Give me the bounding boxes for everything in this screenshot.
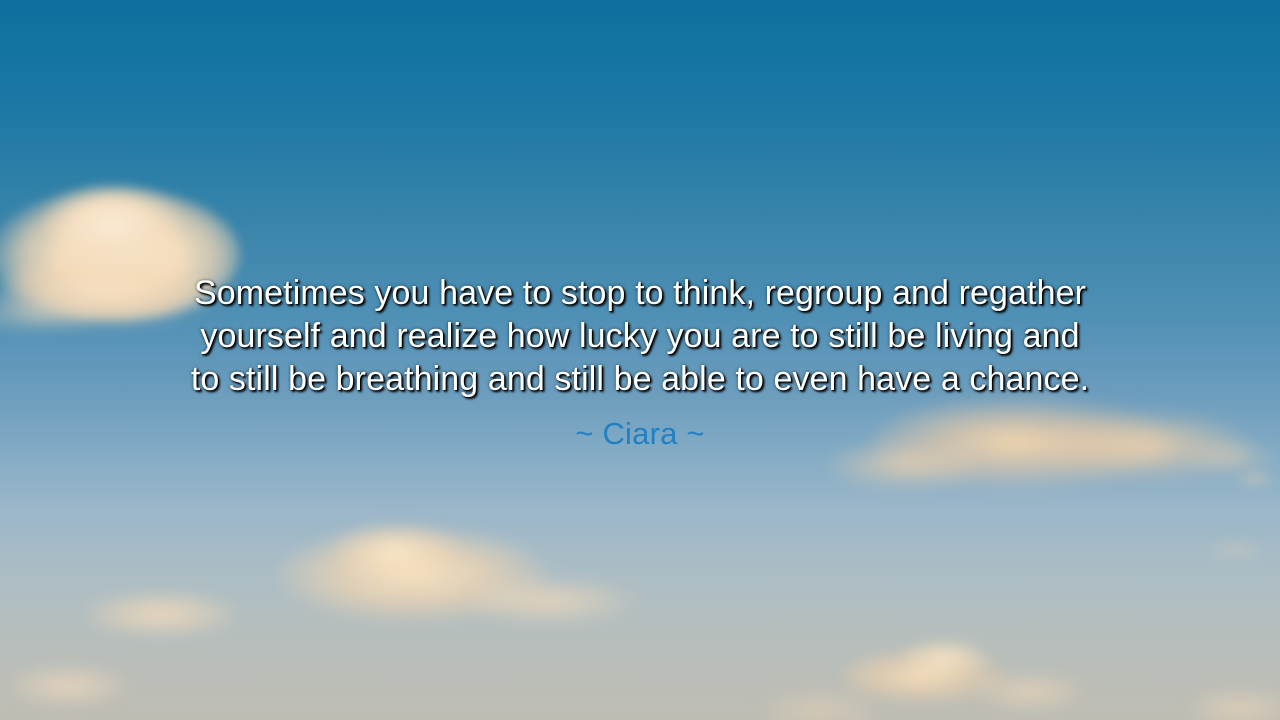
- sky-warm-haze-overlay: [0, 440, 1280, 720]
- quote-image-canvas: Sometimes you have to stop to think, reg…: [0, 0, 1280, 720]
- quote-block: Sometimes you have to stop to think, reg…: [0, 272, 1280, 453]
- quote-text: Sometimes you have to stop to think, reg…: [0, 272, 1280, 401]
- quote-attribution: ~ Ciara ~: [0, 415, 1280, 453]
